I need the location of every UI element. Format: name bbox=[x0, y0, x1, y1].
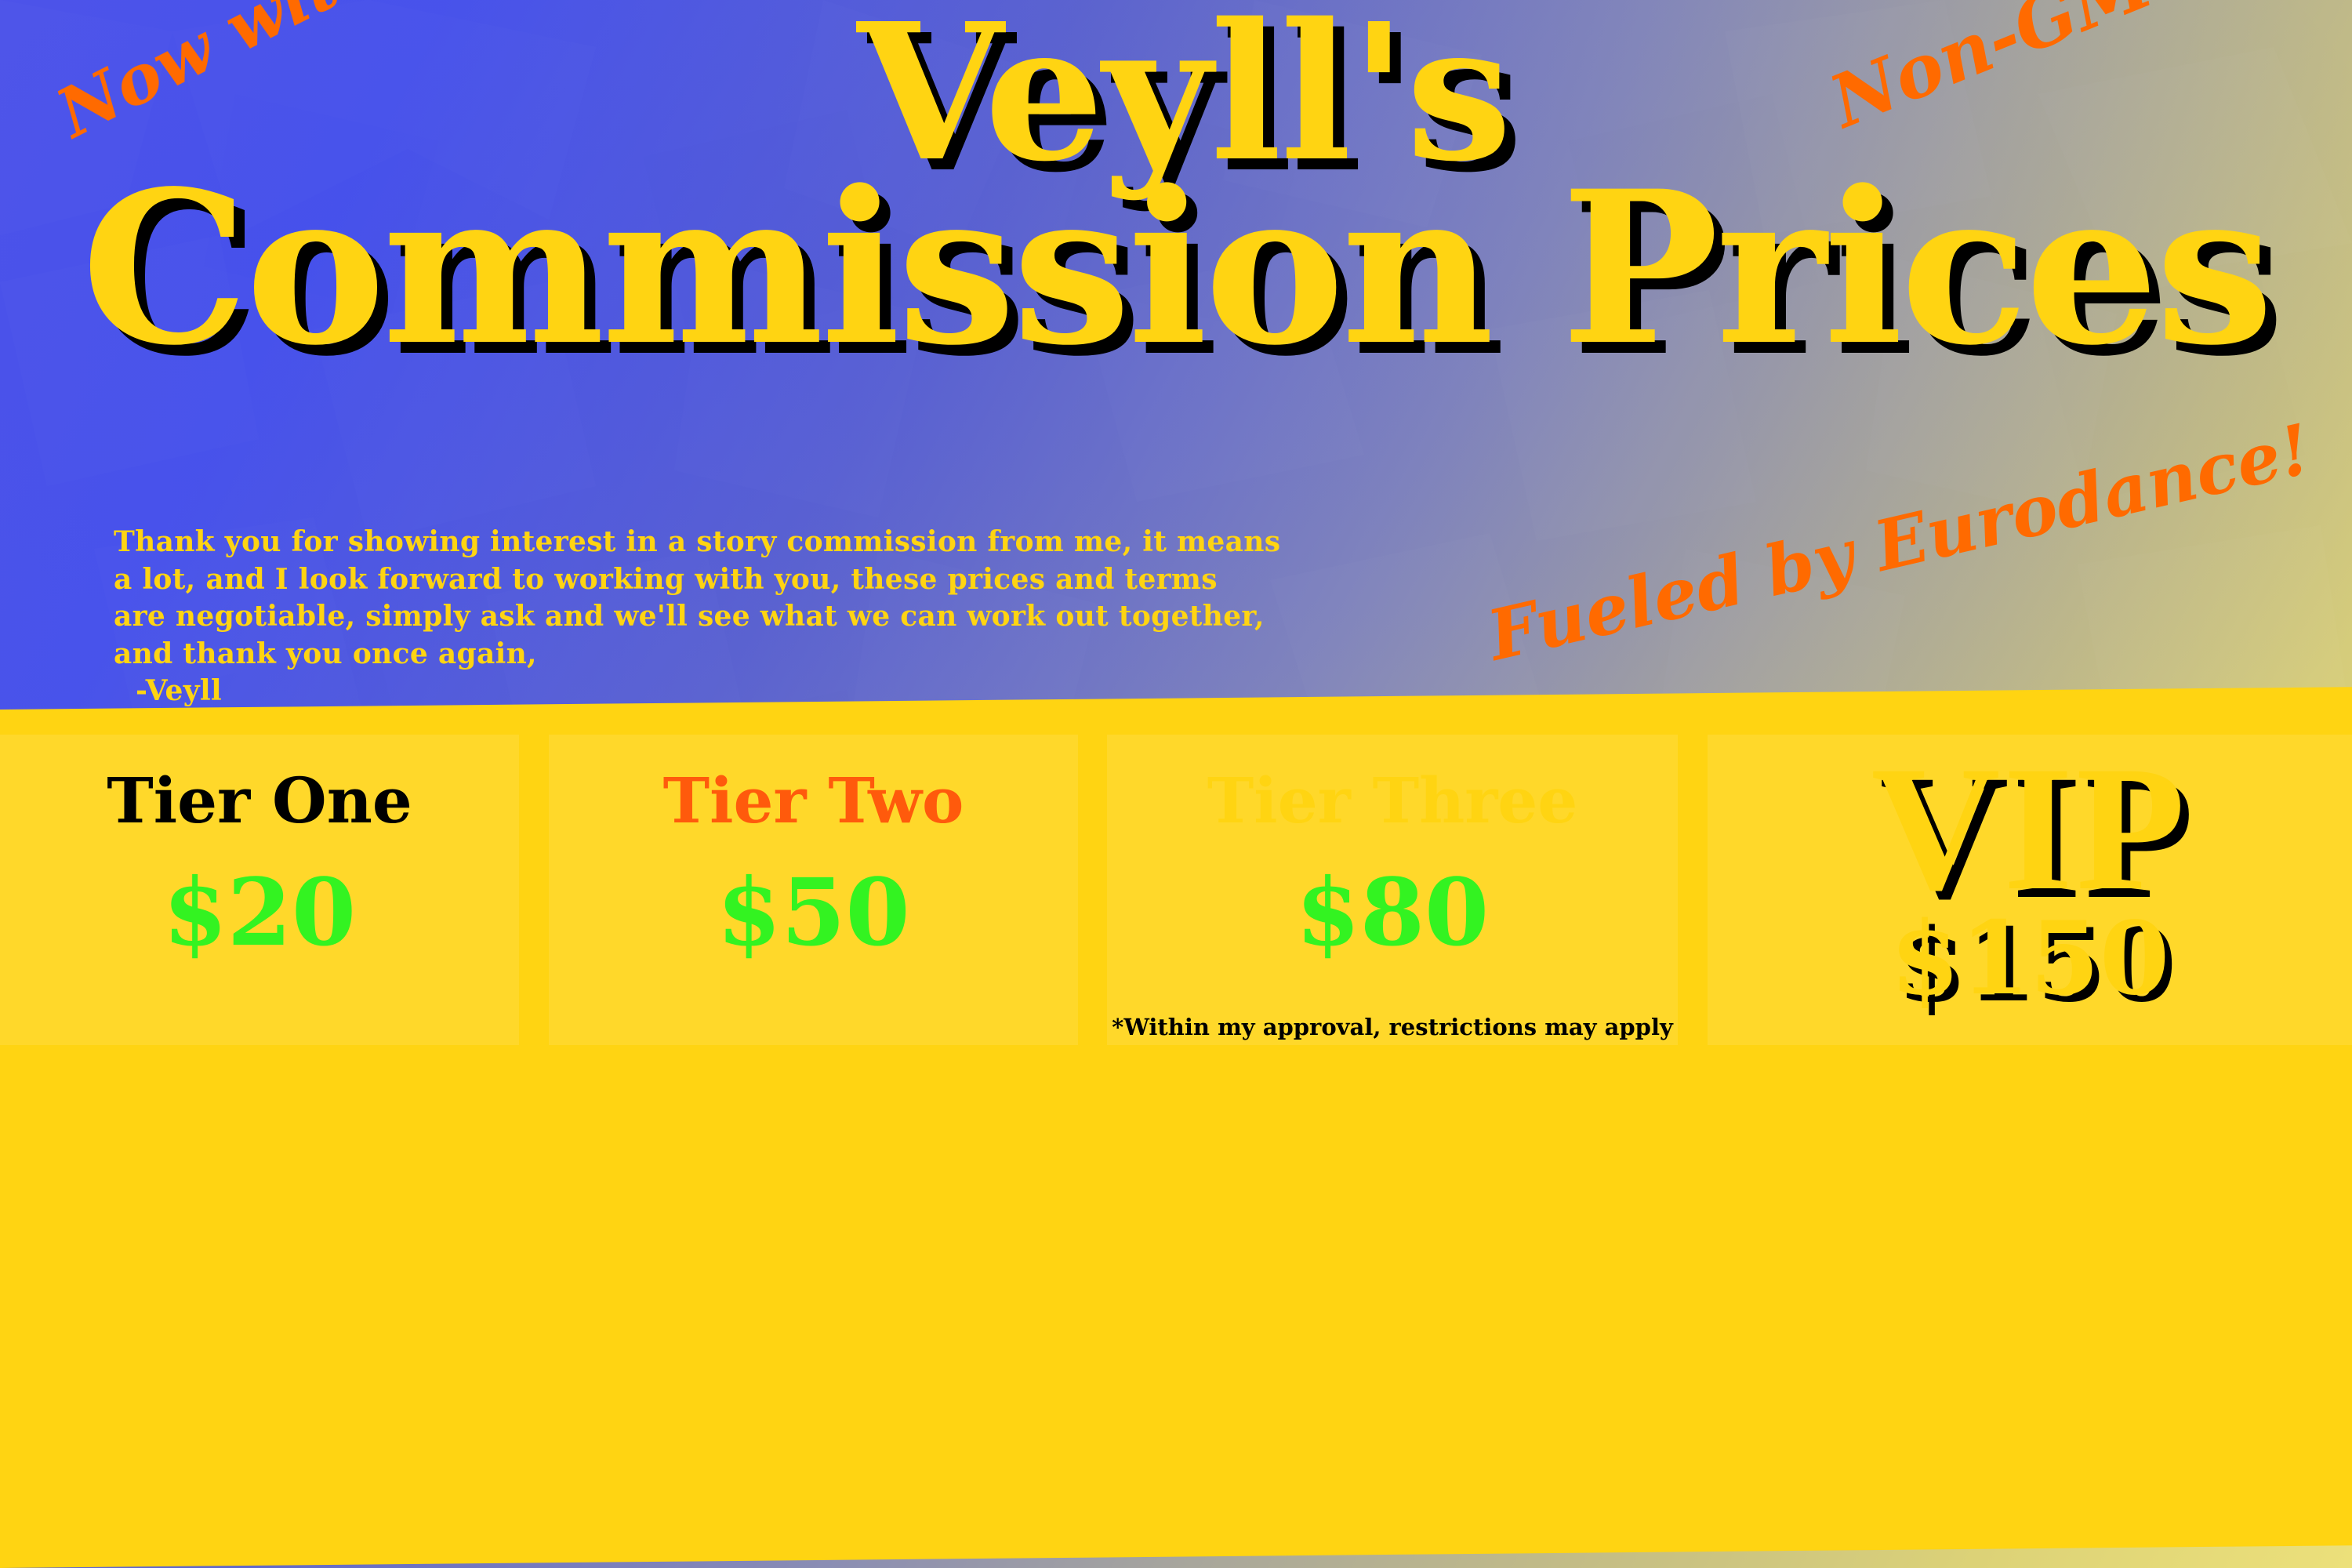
thanks-line-1: Thank you for showing interest in a stor… bbox=[114, 524, 1305, 561]
thanks-line-2: a lot, and I look forward to working wit… bbox=[114, 561, 1305, 599]
tier-three-name: Tier Three bbox=[1107, 769, 1678, 832]
poster-header: Veyll's Commission Prices Now with Tiers… bbox=[0, 0, 2352, 710]
tier-two-header-cell: Tier Two $50 bbox=[549, 735, 1078, 1045]
vip-name: VIP bbox=[1708, 739, 2352, 918]
tier-one-header-cell: Tier One $20 bbox=[0, 735, 519, 1045]
tier-two-price: $50 bbox=[549, 866, 1078, 959]
tier-three-footnote: *Within my approval, restrictions may ap… bbox=[1107, 1014, 1678, 1040]
thanks-line-3: are negotiable, simply ask and we'll see… bbox=[114, 598, 1305, 636]
tier-one-price: $20 bbox=[0, 866, 519, 959]
thank-you-note: Thank you for showing interest in a stor… bbox=[114, 524, 1305, 710]
tier-one-name: Tier One bbox=[0, 769, 519, 832]
vip-price: $150 bbox=[1708, 909, 2352, 1009]
title-line-two: Commission Prices bbox=[0, 169, 2352, 369]
ribbon-fueled-by-eurodance: Fueled by Eurodance! bbox=[1480, 408, 2318, 677]
tier-three-header-cell: Tier Three $80 *Within my approval, rest… bbox=[1107, 735, 1678, 1045]
thanks-line-4: and thank you once again, bbox=[114, 636, 1305, 673]
tier-two-name: Tier Two bbox=[549, 769, 1078, 832]
tier-three-price: $80 bbox=[1107, 866, 1678, 959]
tier-grid: Tier One $20 2,000 words max Uploaded to… bbox=[0, 687, 2352, 1568]
commission-price-poster: Veyll's Commission Prices Now with Tiers… bbox=[0, 0, 2352, 1568]
vip-header-cell: VIP $150 bbox=[1708, 735, 2352, 1045]
